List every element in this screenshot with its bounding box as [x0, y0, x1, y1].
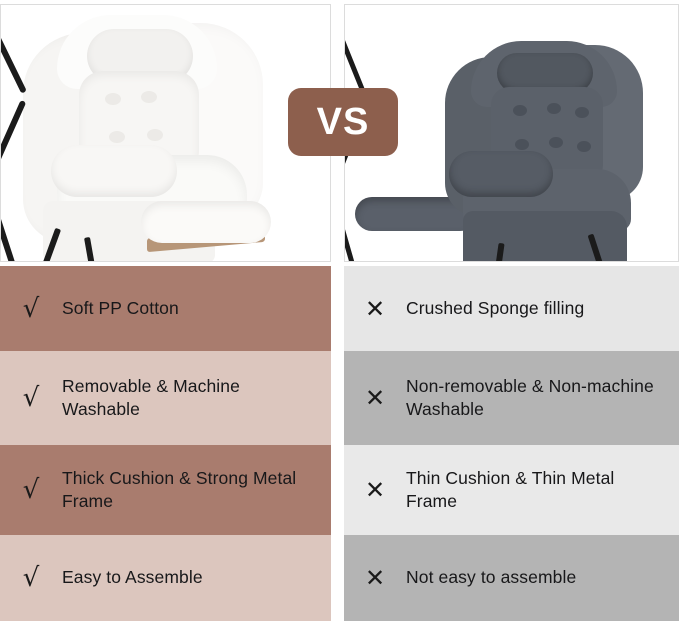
- ottoman-leg: [0, 8, 27, 93]
- tuft-dimple: [549, 137, 563, 148]
- cross-icon: ✕: [344, 566, 406, 590]
- feature-label: Removable & Machine Washable: [62, 375, 331, 421]
- check-icon: √: [0, 477, 62, 503]
- feature-row: ✕ Non-removable & Non-machine Washable: [344, 351, 679, 445]
- feature-label: Crushed Sponge filling: [406, 297, 594, 320]
- tuft-dimple: [147, 129, 163, 141]
- tuft-dimple: [547, 103, 561, 114]
- check-icon: √: [0, 565, 62, 591]
- ottoman-cushion: [141, 201, 271, 243]
- cross-icon: ✕: [344, 297, 406, 321]
- feature-row: √ Thick Cushion & Strong Metal Frame: [0, 445, 331, 535]
- left-product-image: [0, 4, 331, 262]
- feature-row: √ Removable & Machine Washable: [0, 351, 331, 445]
- feature-label: Thin Cushion & Thin Metal Frame: [406, 467, 679, 513]
- feature-label: Thick Cushion & Strong Metal Frame: [62, 467, 331, 513]
- feature-row: ✕ Not easy to assemble: [344, 535, 679, 621]
- cross-icon: ✕: [344, 386, 406, 410]
- tuft-dimple: [141, 91, 157, 103]
- tuft-dimple: [513, 105, 527, 116]
- cross-icon: ✕: [344, 478, 406, 502]
- right-feature-list: ✕ Crushed Sponge filling ✕ Non-removable…: [344, 266, 679, 621]
- vs-badge: VS: [288, 88, 398, 156]
- tuft-dimple: [577, 141, 591, 152]
- chair-base-skirt: [463, 211, 627, 262]
- feature-row: ✕ Crushed Sponge filling: [344, 266, 679, 351]
- vs-label: VS: [317, 103, 370, 141]
- left-product-column: √ Soft PP Cotton √ Removable & Machine W…: [0, 0, 331, 629]
- feature-label: Non-removable & Non-machine Washable: [406, 375, 679, 421]
- comparison-board: √ Soft PP Cotton √ Removable & Machine W…: [0, 0, 679, 629]
- chair-armrest: [449, 151, 553, 197]
- tuft-dimple: [109, 131, 125, 143]
- white-chair-illustration: [1, 5, 330, 261]
- ottoman-leg: [344, 8, 368, 99]
- left-feature-list: √ Soft PP Cotton √ Removable & Machine W…: [0, 266, 331, 621]
- feature-label: Not easy to assemble: [406, 566, 586, 589]
- feature-label: Soft PP Cotton: [62, 297, 189, 320]
- ottoman-leg: [0, 194, 21, 262]
- white-ottoman: [1, 5, 97, 262]
- tuft-dimple: [575, 107, 589, 118]
- check-icon: √: [0, 385, 62, 411]
- check-icon: √: [0, 296, 62, 322]
- feature-row: √ Easy to Assemble: [0, 535, 331, 621]
- feature-label: Easy to Assemble: [62, 566, 213, 589]
- feature-row: ✕ Thin Cushion & Thin Metal Frame: [344, 445, 679, 535]
- tuft-dimple: [515, 139, 529, 150]
- ottoman-leg: [0, 100, 26, 190]
- tuft-dimple: [105, 93, 121, 105]
- feature-row: √ Soft PP Cotton: [0, 266, 331, 351]
